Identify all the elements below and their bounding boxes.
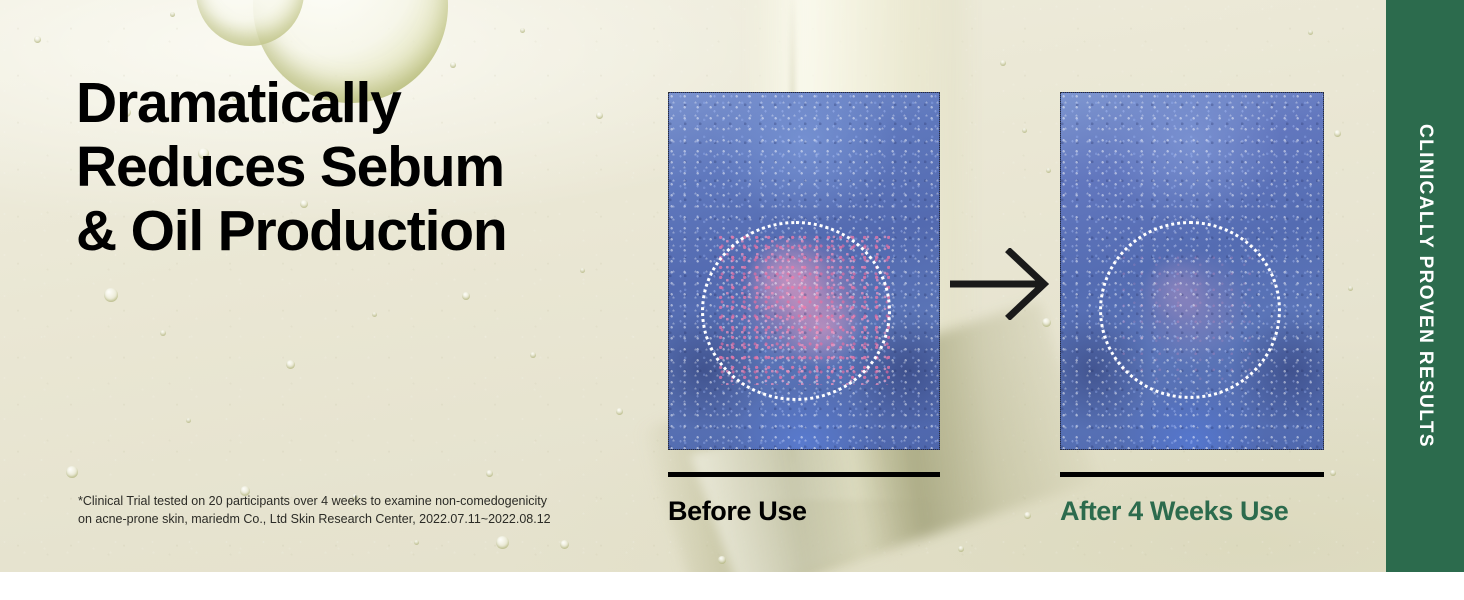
bubble: [958, 546, 964, 552]
headline-line-3: & Oil Production: [76, 200, 676, 264]
bubble: [530, 352, 536, 358]
footnote-line-1: *Clinical Trial tested on 20 participant…: [78, 492, 618, 510]
bubble: [1308, 30, 1313, 35]
bubble: [170, 12, 175, 17]
page-title: Dramatically Reduces Sebum & Oil Product…: [76, 72, 676, 263]
bubble: [414, 540, 419, 545]
clinical-trial-footnote: *Clinical Trial tested on 20 participant…: [78, 492, 618, 528]
bubble: [286, 360, 295, 369]
bubble: [160, 330, 166, 336]
footnote-line-2: on acne-prone skin, mariedm Co., Ltd Ski…: [78, 510, 618, 528]
bubble: [66, 466, 78, 478]
bubble: [718, 556, 726, 564]
clinical-results-banner: Dramatically Reduces Sebum & Oil Product…: [0, 0, 1464, 572]
sidebar-label: CLINICALLY PROVEN RESULTS: [1414, 124, 1436, 448]
bubble: [616, 408, 623, 415]
bubble: [580, 268, 585, 273]
bubble: [560, 540, 569, 549]
clinically-proven-results-sidebar: CLINICALLY PROVEN RESULTS: [1386, 0, 1464, 572]
bubble: [496, 536, 509, 549]
bubble: [520, 28, 525, 33]
before-photo: [668, 92, 940, 450]
bubble: [186, 418, 191, 423]
headline-line-2: Reduces Sebum: [76, 136, 676, 200]
headline-line-1: Dramatically: [76, 72, 676, 136]
after-circle-marker-icon: [1099, 221, 1281, 399]
arrow-right-icon: [948, 248, 1054, 320]
bubble: [1348, 286, 1353, 291]
bubble: [104, 288, 118, 302]
after-photo: [1060, 92, 1324, 450]
after-caption-rule: [1060, 472, 1324, 477]
bubble: [1046, 168, 1051, 173]
bubble: [462, 292, 470, 300]
bubble: [1024, 512, 1031, 519]
bubble: [1000, 60, 1006, 66]
bubble: [1022, 128, 1027, 133]
bubble: [486, 470, 493, 477]
bubble: [34, 36, 41, 43]
bubble: [1330, 470, 1336, 476]
before-caption-label: Before Use: [668, 496, 807, 527]
bubble: [1334, 130, 1341, 137]
bubble: [450, 62, 456, 68]
before-circle-marker-icon: [701, 221, 891, 401]
bubble: [372, 312, 377, 317]
before-caption-rule: [668, 472, 940, 477]
after-caption-label: After 4 Weeks Use: [1060, 496, 1288, 527]
